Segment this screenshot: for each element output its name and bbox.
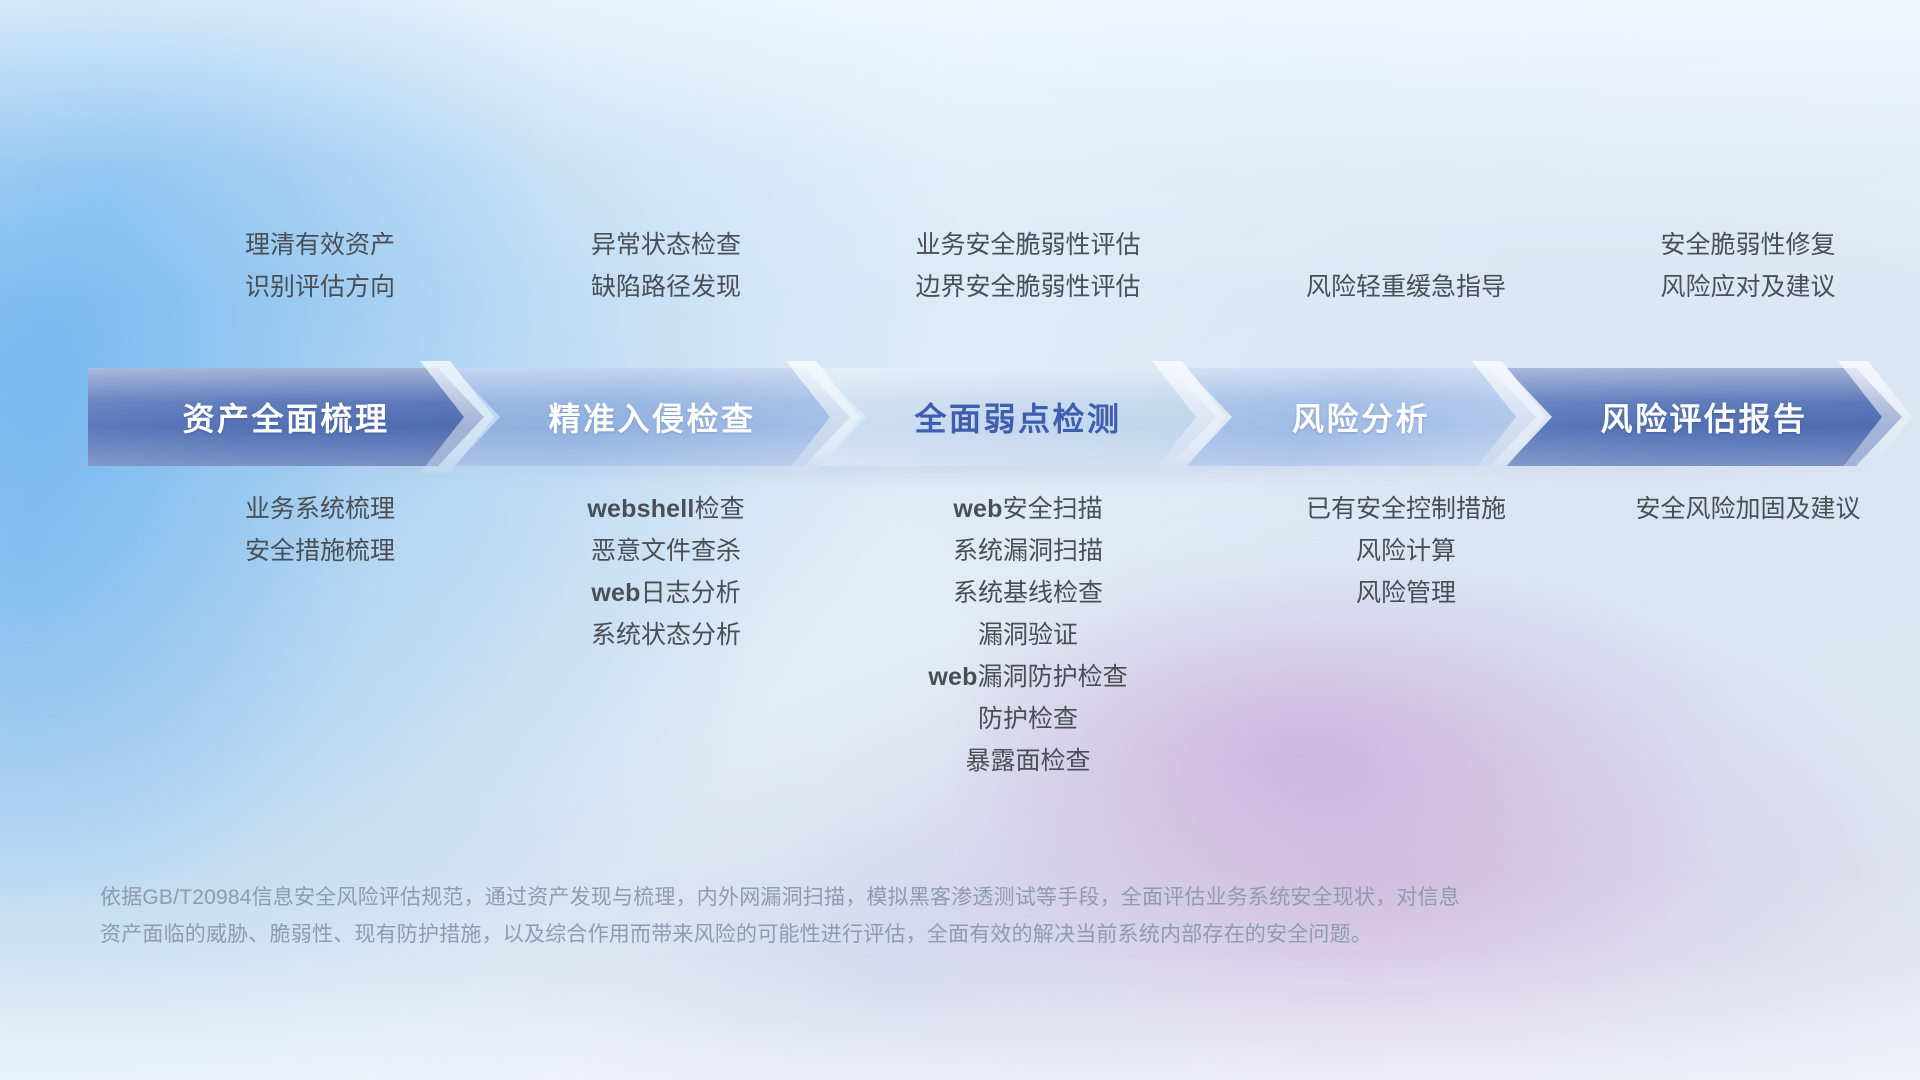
stage-title-intrusion-check: 精准入侵检查	[548, 394, 755, 440]
stage-title-risk-report: 风险评估报告	[1600, 394, 1807, 440]
stage-title-asset-inventory: 资产全面梳理	[182, 394, 389, 440]
footer-description: 依据GB/T20984信息安全风险评估规范，通过资产发现与梳理，内外网漏洞扫描，…	[100, 880, 1800, 954]
stage-task-line: 风险计算	[1146, 530, 1666, 572]
stage-arrow-asset-inventory[interactable]: 资产全面梳理	[88, 368, 484, 466]
stage-title-weakness-detection: 全面弱点检测	[914, 394, 1121, 440]
stage-input-line: 安全脆弱性修复	[1488, 224, 1920, 266]
stage-arrow-risk-analysis[interactable]: 风险分析	[1186, 368, 1536, 466]
stage-task-line: web漏洞防护检查	[768, 656, 1288, 698]
stage-task-line: 安全风险加固及建议	[1488, 488, 1920, 530]
stage-inputs-risk-report: 安全脆弱性修复风险应对及建议	[1488, 224, 1920, 308]
stage-task-line: 暴露面检查	[768, 740, 1288, 782]
stage-arrow-risk-report[interactable]: 风险评估报告	[1506, 368, 1902, 466]
stage-task-line-prefix: web	[591, 579, 640, 607]
footer-line-2: 资产面临的威胁、脆弱性、现有防护措施，以及综合作用而带来风险的可能性进行评估，全…	[100, 917, 1800, 954]
stage-task-line-prefix: webshell	[587, 495, 694, 523]
stage-task-line-prefix: web	[928, 663, 977, 691]
stage-task-line-prefix: web	[953, 495, 1002, 523]
stage-input-line: 风险应对及建议	[1488, 266, 1920, 308]
stage-task-line: 漏洞验证	[768, 614, 1288, 656]
stage-task-line: 防护检查	[768, 698, 1288, 740]
stage-arrow-band: 资产全面梳理精准入侵检查全面弱点检测风险分析风险评估报告	[88, 368, 1848, 466]
stage-title-risk-analysis: 风险分析	[1292, 394, 1430, 440]
stage-tasks-risk-report: 安全风险加固及建议	[1488, 488, 1920, 530]
stage-arrow-weakness-detection[interactable]: 全面弱点检测	[820, 368, 1216, 466]
footer-line-1: 依据GB/T20984信息安全风险评估规范，通过资产发现与梳理，内外网漏洞扫描，…	[100, 880, 1800, 917]
stage-arrow-intrusion-check[interactable]: 精准入侵检查	[454, 368, 850, 466]
stage-task-line: 风险管理	[1146, 572, 1666, 614]
process-diagram: 理清有效资产识别评估方向异常状态检查缺陷路径发现业务安全脆弱性评估边界安全脆弱性…	[0, 0, 1920, 1080]
stage-input-line: 业务安全脆弱性评估	[768, 224, 1288, 266]
